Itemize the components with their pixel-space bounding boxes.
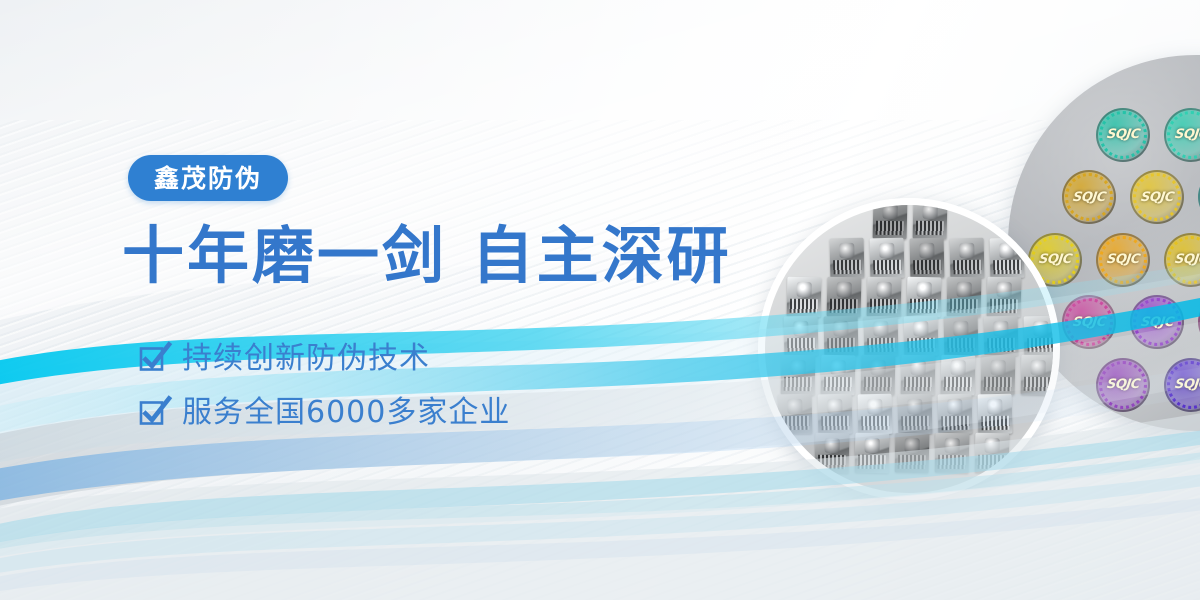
square-label-emblem xyxy=(883,204,898,219)
brand-badge-label: 鑫茂防伪 xyxy=(154,166,262,191)
banner-text-content: 鑫茂防伪 十年磨一剑 自主深研 持续创新防伪技术 xyxy=(0,0,760,600)
square-label-code xyxy=(916,221,944,236)
holographic-square-label xyxy=(873,199,908,240)
square-label-code xyxy=(876,221,904,236)
list-item: 持续创新防伪技术 xyxy=(140,332,510,386)
square-label-emblem xyxy=(923,204,938,219)
list-item: 服务全国6000多家企业 xyxy=(140,386,510,440)
checkbox-checked-icon xyxy=(140,400,166,426)
holographic-round-label: SQJC xyxy=(1130,170,1184,224)
checkbox-checked-icon xyxy=(140,346,166,372)
promo-banner: SQJCSQJCSQJCSQJCSQJCSQJCSQJCSQJCSQJCSQJC… xyxy=(0,0,1200,600)
holographic-label-text: SQJC xyxy=(1072,190,1107,205)
square-label-emblem xyxy=(959,243,974,258)
feature-list: 持续创新防伪技术 服务全国6000多家企业 xyxy=(140,332,510,440)
holographic-label-text: SQJC xyxy=(1140,190,1175,205)
brand-badge: 鑫茂防伪 xyxy=(128,155,288,201)
holographic-round-label: SQJC xyxy=(1062,170,1116,224)
holographic-square-label xyxy=(913,199,948,240)
holographic-label-text: SQJC xyxy=(1174,127,1200,142)
list-item-label: 持续创新防伪技术 xyxy=(182,344,430,374)
square-label-emblem xyxy=(839,243,854,258)
square-label-emblem xyxy=(919,243,934,258)
page-title: 十年磨一剑 自主深研 xyxy=(122,222,732,290)
holographic-round-label: SQJC xyxy=(1096,108,1150,162)
holographic-label-text: SQJC xyxy=(1106,127,1141,142)
list-item-label: 服务全国6000多家企业 xyxy=(182,398,510,428)
square-label-emblem xyxy=(879,243,894,258)
square-label-emblem xyxy=(999,243,1014,258)
